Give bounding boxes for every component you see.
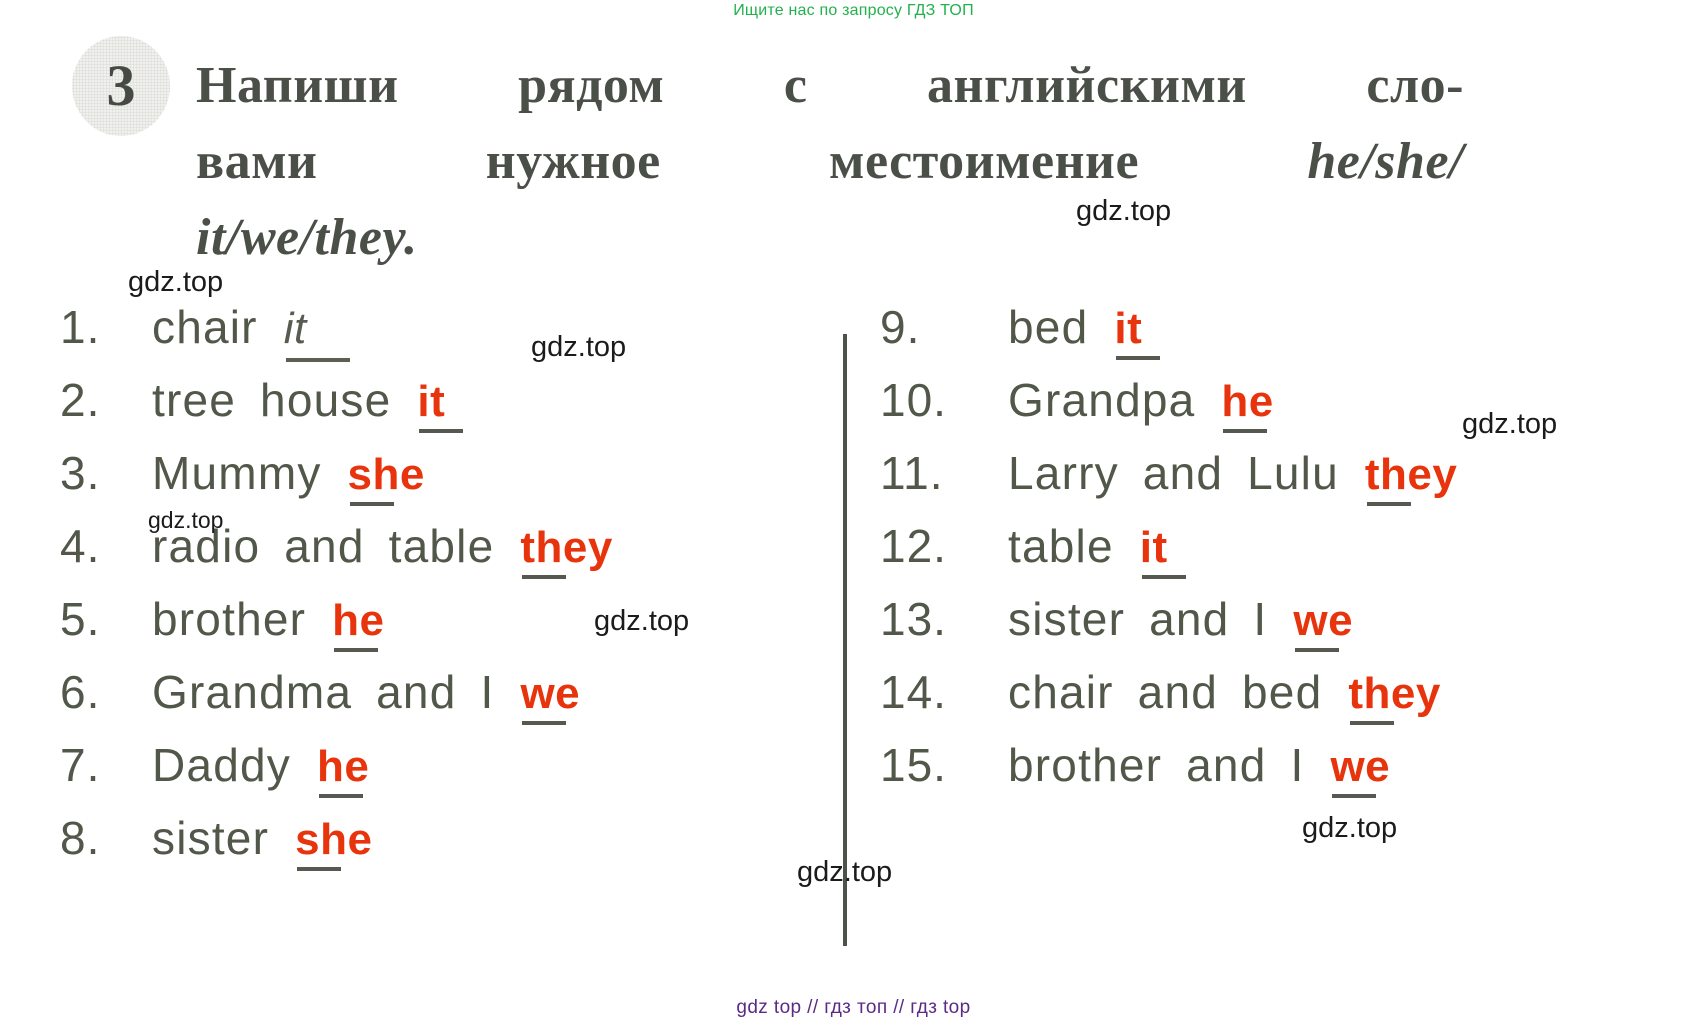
item-number: 15. [880,738,1008,792]
list-item: 12.tableit [880,519,1670,592]
answer-blank[interactable]: she [348,450,425,500]
worksheet-page: Ищите нас по запросу ГДЗ ТОП 3 Напиши ря… [0,0,1707,1027]
item-number: 14. [880,665,1008,719]
answer-blank[interactable]: it [1114,304,1142,354]
item-number: 10. [880,373,1008,427]
blank-underline [1332,794,1376,798]
answer-blank[interactable]: they [520,523,612,573]
instruction-pronouns-a: he/she/ [1307,133,1464,190]
answer-blank[interactable]: he [1221,377,1273,427]
footer-watermark: gdz top // гдз топ // гдз top [0,997,1707,1019]
blank-underline [419,429,463,433]
list-item: 9.bedit [880,300,1670,373]
answer-text: it [1114,304,1142,353]
item-term: Mummy [152,446,322,500]
instruction-pronouns-b: it/we/they. [196,200,1464,276]
item-number: 6. [60,665,152,719]
answer-blank[interactable]: it [284,304,307,354]
instruction-line-1: Напиши рядом с английскими сло- [196,48,1464,124]
instruction-text: Напиши рядом с английскими сло- вами нуж… [196,48,1464,276]
answer-text: he [332,596,384,645]
item-term: brother and I [1008,738,1304,792]
answer-blank[interactable]: we [1293,596,1353,646]
item-term: chair and bed [1008,665,1322,719]
answer-text: he [1221,377,1273,426]
exercise-number: 3 [72,36,170,136]
watermark: gdz.top [594,605,689,638]
watermark: gdz.top [531,331,626,364]
answer-blank[interactable]: we [520,669,580,719]
blank-underline [1223,429,1267,433]
watermark: gdz.top [797,856,892,889]
item-number: 3. [60,446,152,500]
answer-text: she [295,815,372,864]
answer-blank[interactable]: he [332,596,384,646]
blank-underline [1116,356,1160,360]
blank-underline [297,867,341,871]
blank-underline [1350,721,1394,725]
blank-underline [1142,575,1186,579]
answer-text: they [1348,669,1440,718]
blank-underline [319,794,363,798]
item-term: sister and I [1008,592,1267,646]
answer-text: we [520,669,580,718]
list-item: 1.chairit [60,300,820,373]
item-number: 1. [60,300,152,354]
blank-underline [1367,502,1411,506]
answer-blank[interactable]: it [417,377,445,427]
blank-underline [522,721,566,725]
answer-text: she [348,450,425,499]
answer-text: it [284,304,307,353]
answer-text: we [1293,596,1353,645]
list-item: 5.brotherhe [60,592,820,665]
blank-underline [286,358,350,362]
item-number: 13. [880,592,1008,646]
blank-underline [1295,648,1339,652]
item-term: table [1008,519,1114,573]
instruction-line-2: вами нужное местоимение [196,133,1307,190]
blank-underline [334,648,378,652]
list-item: 6.Grandma and Iwe [60,665,820,738]
item-term: sister [152,811,269,865]
item-number: 9. [880,300,1008,354]
blank-underline [522,575,566,579]
item-term: chair [152,300,258,354]
answer-blank[interactable]: we [1330,742,1390,792]
item-term: Larry and Lulu [1008,446,1339,500]
item-number: 5. [60,592,152,646]
answer-blank[interactable]: they [1348,669,1440,719]
answer-text: they [1365,450,1457,499]
item-term: tree house [152,373,391,427]
watermark: gdz.top [1076,195,1171,228]
item-number: 7. [60,738,152,792]
item-term: Daddy [152,738,291,792]
list-item: 14.chair and bedthey [880,665,1670,738]
watermark: gdz.top [1302,812,1397,845]
list-item: 11.Larry and Luluthey [880,446,1670,519]
list-item: 8.sistershe [60,811,820,884]
item-term: Grandma and I [152,665,494,719]
item-term: brother [152,592,306,646]
list-item: 13.sister and Iwe [880,592,1670,665]
watermark: gdz.top [1462,408,1557,441]
list-item: 7.Daddyhe [60,738,820,811]
answer-text: they [520,523,612,572]
list-item: 15.brother and Iwe [880,738,1670,811]
answer-column-right: 9.bedit10.Grandpahe11.Larry and Luluthey… [880,300,1670,811]
watermark: gdz.top [148,507,223,534]
answer-blank[interactable]: it [1140,523,1168,573]
item-number: 2. [60,373,152,427]
answer-blank[interactable]: he [317,742,369,792]
answer-column-left: 1.chairit2.tree houseit3.Mummyshe4.radio… [60,300,820,884]
column-divider [843,334,847,946]
item-number: 8. [60,811,152,865]
answer-text: he [317,742,369,791]
item-number: 11. [880,446,1008,500]
item-term: bed [1008,300,1088,354]
item-term: Grandpa [1008,373,1195,427]
answer-blank[interactable]: she [295,815,372,865]
item-number: 4. [60,519,152,573]
answer-text: it [1140,523,1168,572]
answer-text: we [1330,742,1390,791]
item-number: 12. [880,519,1008,573]
promo-banner: Ищите нас по запросу ГДЗ ТОП [0,2,1707,20]
answer-blank[interactable]: they [1365,450,1457,500]
list-item: 2.tree houseit [60,373,820,446]
blank-underline [350,502,394,506]
watermark: gdz.top [128,266,223,299]
answer-text: it [417,377,445,426]
